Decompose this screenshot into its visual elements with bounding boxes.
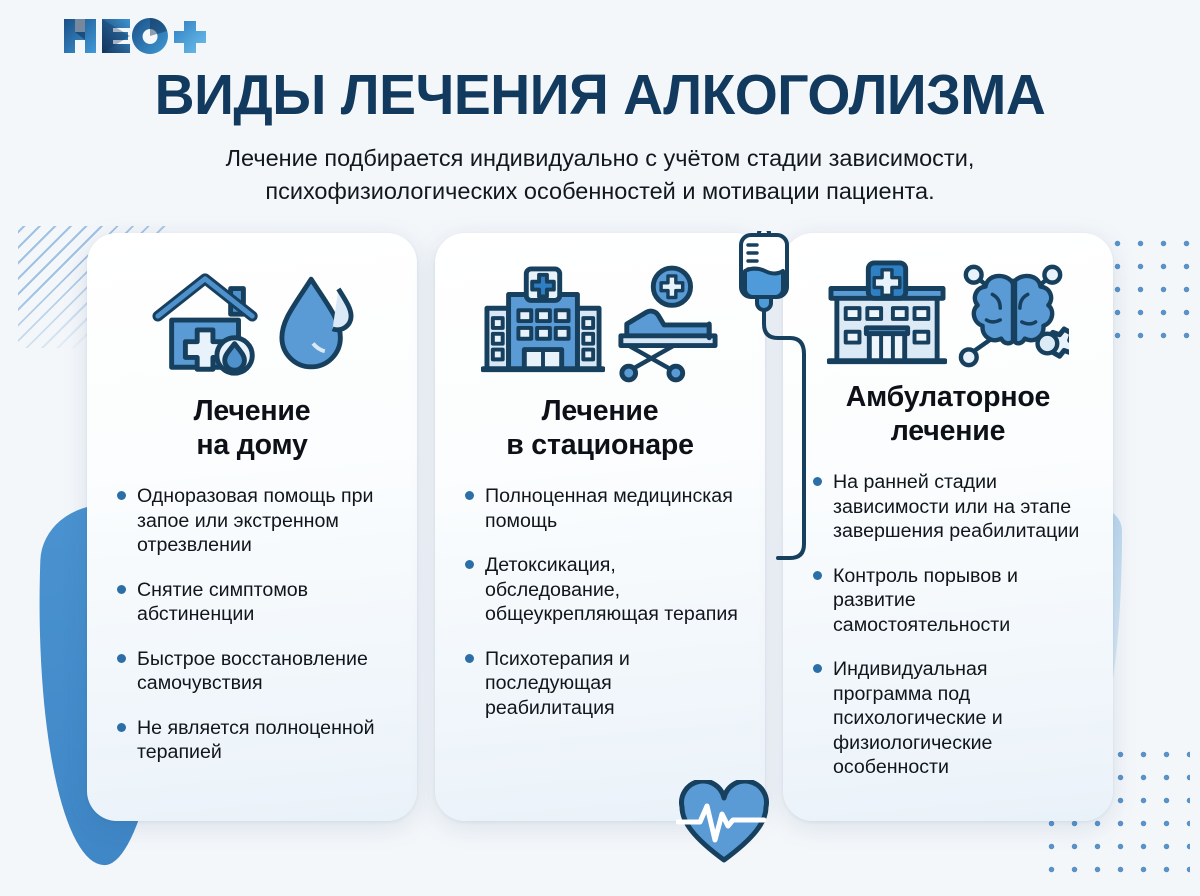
page-title: ВИДЫ ЛЕЧЕНИЯ АЛКОГОЛИЗМА <box>18 66 1182 124</box>
card-2-title-line-1: Лечение <box>542 395 659 427</box>
home-medical-icon <box>150 265 268 383</box>
subtitle-line-2: психофизиологических особенностей и моти… <box>265 178 934 204</box>
card-2-icon-row <box>481 259 719 389</box>
list-item: Индивидуальная программа под психологиче… <box>811 657 1091 779</box>
card-1-title: Лечение на дому <box>194 395 311 462</box>
card-outpatient-treatment[interactable]: Амбулаторное лечение На ранней стадии за… <box>783 233 1113 821</box>
card-2-bullet-list: Полноценная медицинская помощь Детоксика… <box>457 484 743 740</box>
iv-drip-icon <box>735 231 825 571</box>
treatment-cards-container: Лечение на дому Одноразовая помощь при з… <box>0 233 1200 821</box>
hospital-building-icon <box>481 265 605 383</box>
card-3-title: Амбулаторное лечение <box>846 381 1050 448</box>
list-item: Детоксикация, обследование, общеукрепляю… <box>463 553 743 626</box>
brain-gear-icon <box>957 261 1069 373</box>
subtitle-line-1: Лечение подбирается индивидуально с учёт… <box>226 145 975 171</box>
card-2-title: Лечение в стационаре <box>506 395 693 462</box>
card-3-icon-row <box>827 259 1069 375</box>
page-header: ВИДЫ ЛЕЧЕНИЯ АЛКОГОЛИЗМА Лечение подбира… <box>0 0 1200 207</box>
list-item: Психотерапия и последующая реабилитация <box>463 647 743 720</box>
list-item: На ранней стадии зависимости или на этап… <box>811 470 1091 543</box>
hospital-bed-icon <box>615 265 719 383</box>
card-1-bullet-list: Одноразовая помощь при запое или экстрен… <box>109 484 395 784</box>
list-item: Не является полноценной терапией <box>115 716 395 765</box>
list-item: Быстрое восстановление самочувствия <box>115 647 395 696</box>
water-drop-icon <box>278 269 354 379</box>
card-1-title-line-1: Лечение <box>194 395 311 427</box>
card-3-bullet-list: На ранней стадии зависимости или на этап… <box>805 470 1091 799</box>
list-item: Полноценная медицинская помощь <box>463 484 743 533</box>
clinic-building-icon <box>827 259 947 375</box>
card-3-title-line-2: лечение <box>891 415 1005 447</box>
card-1-title-line-2: на дому <box>196 429 307 461</box>
brand-logo[interactable] <box>62 14 1200 58</box>
list-item: Контроль порывов и развитие самостоятель… <box>811 564 1091 637</box>
page-subtitle: Лечение подбирается индивидуально с учёт… <box>100 142 1100 207</box>
card-3-title-line-1: Амбулаторное <box>846 381 1050 413</box>
card-inpatient-treatment[interactable]: Лечение в стационаре Полноценная медицин… <box>435 233 765 821</box>
list-item: Одноразовая помощь при запое или экстрен… <box>115 484 395 557</box>
card-home-treatment[interactable]: Лечение на дому Одноразовая помощь при з… <box>87 233 417 821</box>
heartbeat-icon <box>676 780 772 869</box>
card-2-title-line-2: в стационаре <box>506 429 693 461</box>
card-1-icon-row <box>150 259 354 389</box>
list-item: Снятие симптомов абстиненции <box>115 578 395 627</box>
